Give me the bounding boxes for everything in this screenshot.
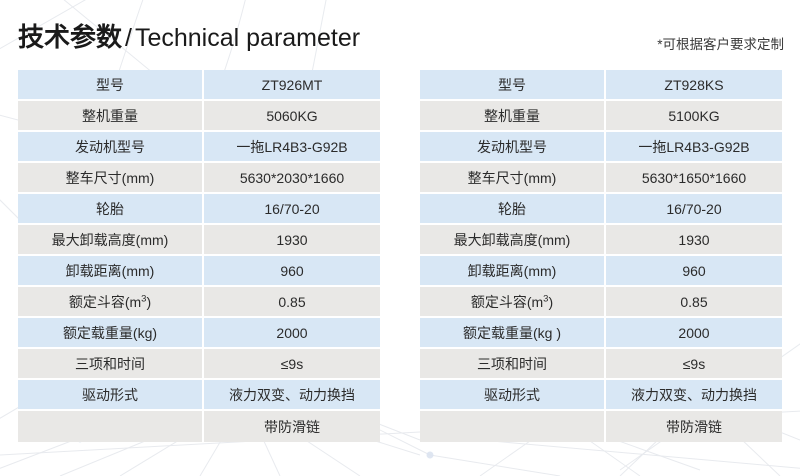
spec-label-cell: 轮胎 [18, 194, 204, 225]
spec-value-cell: 960 [606, 256, 782, 287]
table-row: 带防滑链 [420, 411, 782, 442]
spec-table-right: 型号ZT928KS整机重量5100KG发动机型号一拖LR4B3-G92B整车尺寸… [420, 70, 782, 442]
table-row: 整车尺寸(mm)5630*1650*1660 [420, 163, 782, 194]
customization-note: *可根据客户要求定制 [657, 36, 784, 54]
table-row: 额定斗容(m3)0.85 [18, 287, 380, 318]
table-row: 最大卸载高度(mm)1930 [18, 225, 380, 256]
spec-label-cell: 卸载距离(mm) [420, 256, 606, 287]
spec-value-cell: ZT928KS [606, 70, 782, 101]
table-row: 整机重量5060KG [18, 101, 380, 132]
spec-table-left-body: 型号ZT926MT整机重量5060KG发动机型号一拖LR4B3-G92B整车尺寸… [18, 70, 380, 442]
spec-value-cell: 5100KG [606, 101, 782, 132]
spec-table-left: 型号ZT926MT整机重量5060KG发动机型号一拖LR4B3-G92B整车尺寸… [18, 70, 380, 442]
spec-label-cell: 发动机型号 [420, 132, 606, 163]
table-row: 型号ZT926MT [18, 70, 380, 101]
spec-label-cell: 型号 [420, 70, 606, 101]
superscript: 3 [543, 293, 548, 304]
spec-label-cell: 额定载重量(kg ) [420, 318, 606, 349]
spec-label-cell: 三项和时间 [420, 349, 606, 380]
spec-label-cell: 驱动形式 [420, 380, 606, 411]
spec-value-cell: 5630*2030*1660 [204, 163, 380, 194]
spec-label-cell: 额定载重量(kg) [18, 318, 204, 349]
table-row: 最大卸载高度(mm)1930 [420, 225, 782, 256]
spec-table-right-body: 型号ZT928KS整机重量5100KG发动机型号一拖LR4B3-G92B整车尺寸… [420, 70, 782, 442]
spec-value-cell: 5630*1650*1660 [606, 163, 782, 194]
table-row: 驱动形式液力双变、动力换挡 [18, 380, 380, 411]
spec-value-cell: 16/70-20 [606, 194, 782, 225]
table-row: 整车尺寸(mm)5630*2030*1660 [18, 163, 380, 194]
spec-label-cell: 最大卸载高度(mm) [420, 225, 606, 256]
spec-value-cell: 一拖LR4B3-G92B [204, 132, 380, 163]
table-row: 卸载距离(mm)960 [420, 256, 782, 287]
spec-value-cell: 1930 [606, 225, 782, 256]
spec-label-cell: 整车尺寸(mm) [18, 163, 204, 194]
spec-value-cell: 16/70-20 [204, 194, 380, 225]
spec-label-cell [18, 411, 204, 442]
table-row: 型号ZT928KS [420, 70, 782, 101]
spec-label-cell: 额定斗容(m3) [420, 287, 606, 318]
spec-label-cell: 整机重量 [18, 101, 204, 132]
table-row: 驱动形式液力双变、动力换挡 [420, 380, 782, 411]
spec-value-cell: 液力双变、动力换挡 [606, 380, 782, 411]
page-title-separator: / [122, 24, 135, 52]
spec-sheet-page: 技术参数/Technical parameter *可根据客户要求定制 型号ZT… [0, 0, 800, 476]
table-row: 轮胎16/70-20 [18, 194, 380, 225]
spec-value-cell: ≤9s [204, 349, 380, 380]
table-row: 发动机型号一拖LR4B3-G92B [18, 132, 380, 163]
spec-value-cell: 2000 [204, 318, 380, 349]
spec-label-cell: 额定斗容(m3) [18, 287, 204, 318]
table-row: 三项和时间≤9s [18, 349, 380, 380]
spec-value-cell: 5060KG [204, 101, 380, 132]
page-header: 技术参数/Technical parameter *可根据客户要求定制 [0, 0, 800, 64]
spec-value-cell: 一拖LR4B3-G92B [606, 132, 782, 163]
table-row: 整机重量5100KG [420, 101, 782, 132]
spec-value-cell: 液力双变、动力换挡 [204, 380, 380, 411]
page-title-en: Technical parameter [135, 24, 360, 52]
spec-value-cell: 带防滑链 [204, 411, 380, 442]
table-row: 额定斗容(m3)0.85 [420, 287, 782, 318]
spec-label-cell: 整机重量 [420, 101, 606, 132]
page-title-cn: 技术参数 [18, 22, 122, 52]
spec-value-cell: ≤9s [606, 349, 782, 380]
spec-tables-container: 型号ZT926MT整机重量5060KG发动机型号一拖LR4B3-G92B整车尺寸… [0, 70, 800, 452]
table-row: 轮胎16/70-20 [420, 194, 782, 225]
page-title: 技术参数/Technical parameter [18, 22, 360, 53]
spec-label-cell: 三项和时间 [18, 349, 204, 380]
spec-label-cell: 发动机型号 [18, 132, 204, 163]
spec-label-cell: 驱动形式 [18, 380, 204, 411]
table-row: 发动机型号一拖LR4B3-G92B [420, 132, 782, 163]
spec-value-cell: 0.85 [204, 287, 380, 318]
spec-label-cell: 整车尺寸(mm) [420, 163, 606, 194]
spec-label-cell [420, 411, 606, 442]
spec-value-cell: ZT926MT [204, 70, 380, 101]
spec-label-cell: 最大卸载高度(mm) [18, 225, 204, 256]
table-row: 带防滑链 [18, 411, 380, 442]
spec-value-cell: 2000 [606, 318, 782, 349]
spec-label-cell: 卸载距离(mm) [18, 256, 204, 287]
spec-label-cell: 型号 [18, 70, 204, 101]
table-row: 额定载重量(kg)2000 [18, 318, 380, 349]
spec-value-cell: 960 [204, 256, 380, 287]
table-row: 卸载距离(mm)960 [18, 256, 380, 287]
table-row: 额定载重量(kg )2000 [420, 318, 782, 349]
spec-label-cell: 轮胎 [420, 194, 606, 225]
spec-value-cell: 0.85 [606, 287, 782, 318]
table-row: 三项和时间≤9s [420, 349, 782, 380]
spec-value-cell: 带防滑链 [606, 411, 782, 442]
superscript: 3 [141, 293, 146, 304]
spec-value-cell: 1930 [204, 225, 380, 256]
